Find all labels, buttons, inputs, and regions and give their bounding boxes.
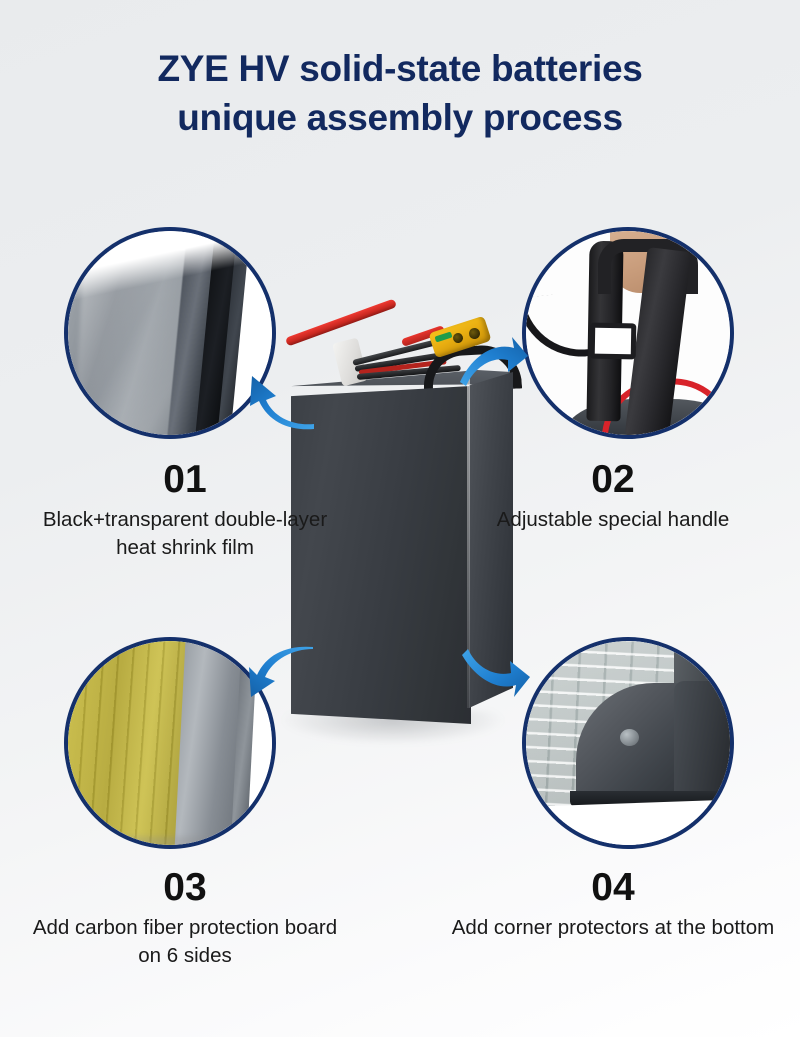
- feature-image-02: [522, 227, 734, 439]
- title-line-1: ZYE HV solid-state batteries: [0, 44, 800, 93]
- strap-buckle: [590, 323, 637, 360]
- feature-caption-01: 01 Black+transparent double-layer heat s…: [22, 458, 348, 562]
- feature-description-02: Adjustable special handle: [450, 506, 776, 534]
- protector-screw-hole: [620, 729, 639, 746]
- corner-protector-photo: [526, 641, 730, 845]
- feature-number-03: 03: [22, 866, 348, 910]
- heat-shrink-film-photo: [68, 231, 272, 435]
- feature-image-01: [64, 227, 276, 439]
- feature-description-04: Add corner protectors at the bottom: [450, 914, 776, 942]
- feature-number-02: 02: [450, 458, 776, 502]
- yellow-fiber-panel: [68, 641, 194, 845]
- feature-caption-04: 04 Add corner protectors at the bottom: [450, 866, 776, 942]
- feature-number-04: 04: [450, 866, 776, 910]
- feature-image-04: [522, 637, 734, 849]
- carbon-fiber-board-photo: [68, 641, 272, 845]
- title-line-2: unique assembly process: [0, 93, 800, 142]
- feature-caption-03: 03 Add carbon fiber protection board on …: [22, 866, 348, 970]
- feature-caption-02: 02 Adjustable special handle: [450, 458, 776, 534]
- arrow-to-feature-02: [456, 330, 530, 393]
- corner-protector-face: [674, 681, 730, 805]
- feature-description-01: Black+transparent double-layer heat shri…: [22, 506, 348, 562]
- arrow-to-feature-01: [246, 374, 316, 435]
- feature-number-01: 01: [22, 458, 348, 502]
- arrow-to-feature-03: [243, 643, 315, 706]
- protector-white-base: [526, 798, 730, 845]
- arrow-to-feature-04: [458, 645, 532, 706]
- red-power-wire: [285, 298, 397, 346]
- poster-page: ZYE HV solid-state batteries unique asse…: [0, 0, 800, 1037]
- feature-description-03: Add carbon fiber protection board on 6 s…: [22, 914, 348, 970]
- page-title: ZYE HV solid-state batteries unique asse…: [0, 44, 800, 142]
- handle-strap-photo: [526, 231, 730, 435]
